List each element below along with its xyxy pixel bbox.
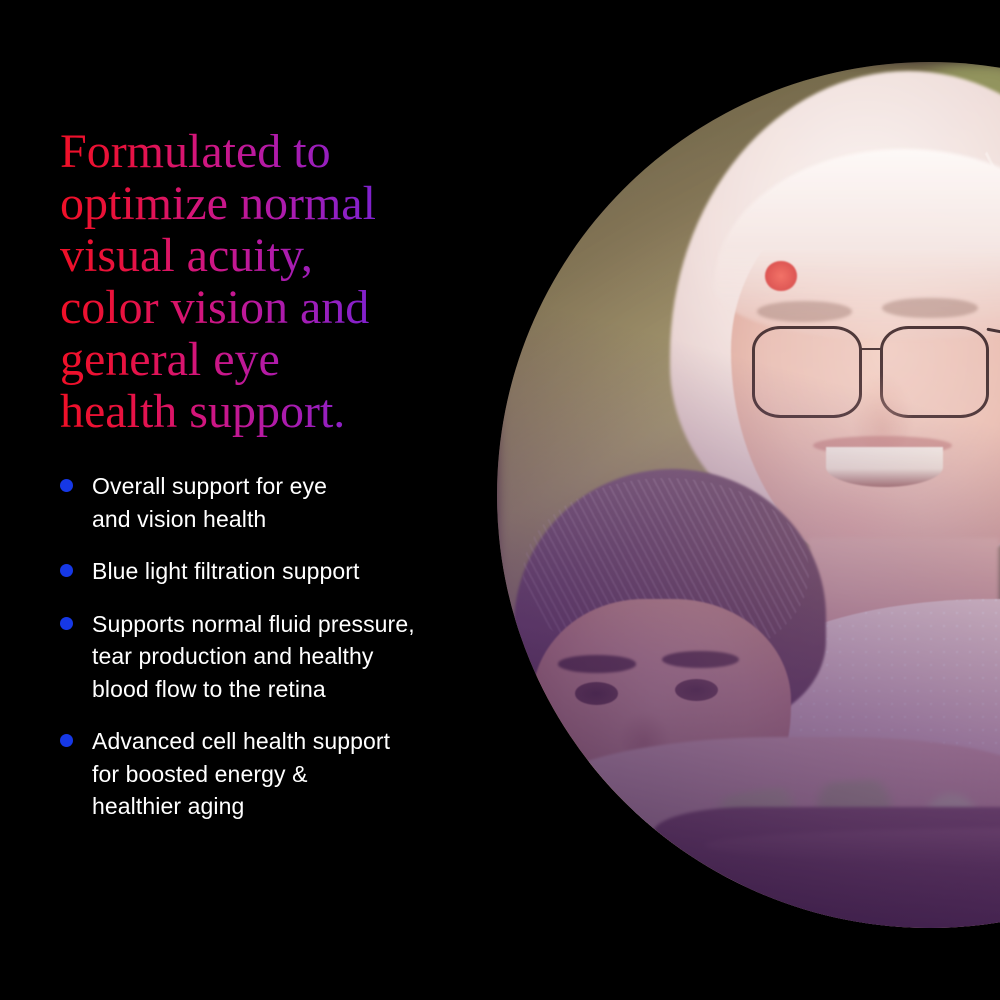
headline: Formulated to optimize normal visual acu… xyxy=(60,126,460,438)
photo-purple-shadow-overlay xyxy=(497,62,1000,928)
list-item: Advanced cell health support for boosted… xyxy=(60,725,475,823)
benefit-text: Advanced cell health support for boosted… xyxy=(92,725,475,823)
list-item: Overall support for eye and vision healt… xyxy=(60,470,475,535)
lifestyle-photo-circle xyxy=(497,62,1000,928)
benefit-text: Supports normal fluid pressure, tear pro… xyxy=(92,608,475,706)
benefit-text: Overall support for eye and vision healt… xyxy=(92,470,475,535)
bullet-dot-icon xyxy=(60,479,73,492)
benefit-text: Blue light filtration support xyxy=(92,555,475,588)
list-item: Blue light filtration support xyxy=(60,555,475,588)
bullet-dot-icon xyxy=(60,617,73,630)
bullet-dot-icon xyxy=(60,564,73,577)
list-item: Supports normal fluid pressure, tear pro… xyxy=(60,608,475,706)
bullet-dot-icon xyxy=(60,734,73,747)
benefits-list: Overall support for eye and vision healt… xyxy=(60,470,475,823)
ad-banner: Formulated to optimize normal visual acu… xyxy=(0,0,1000,1000)
